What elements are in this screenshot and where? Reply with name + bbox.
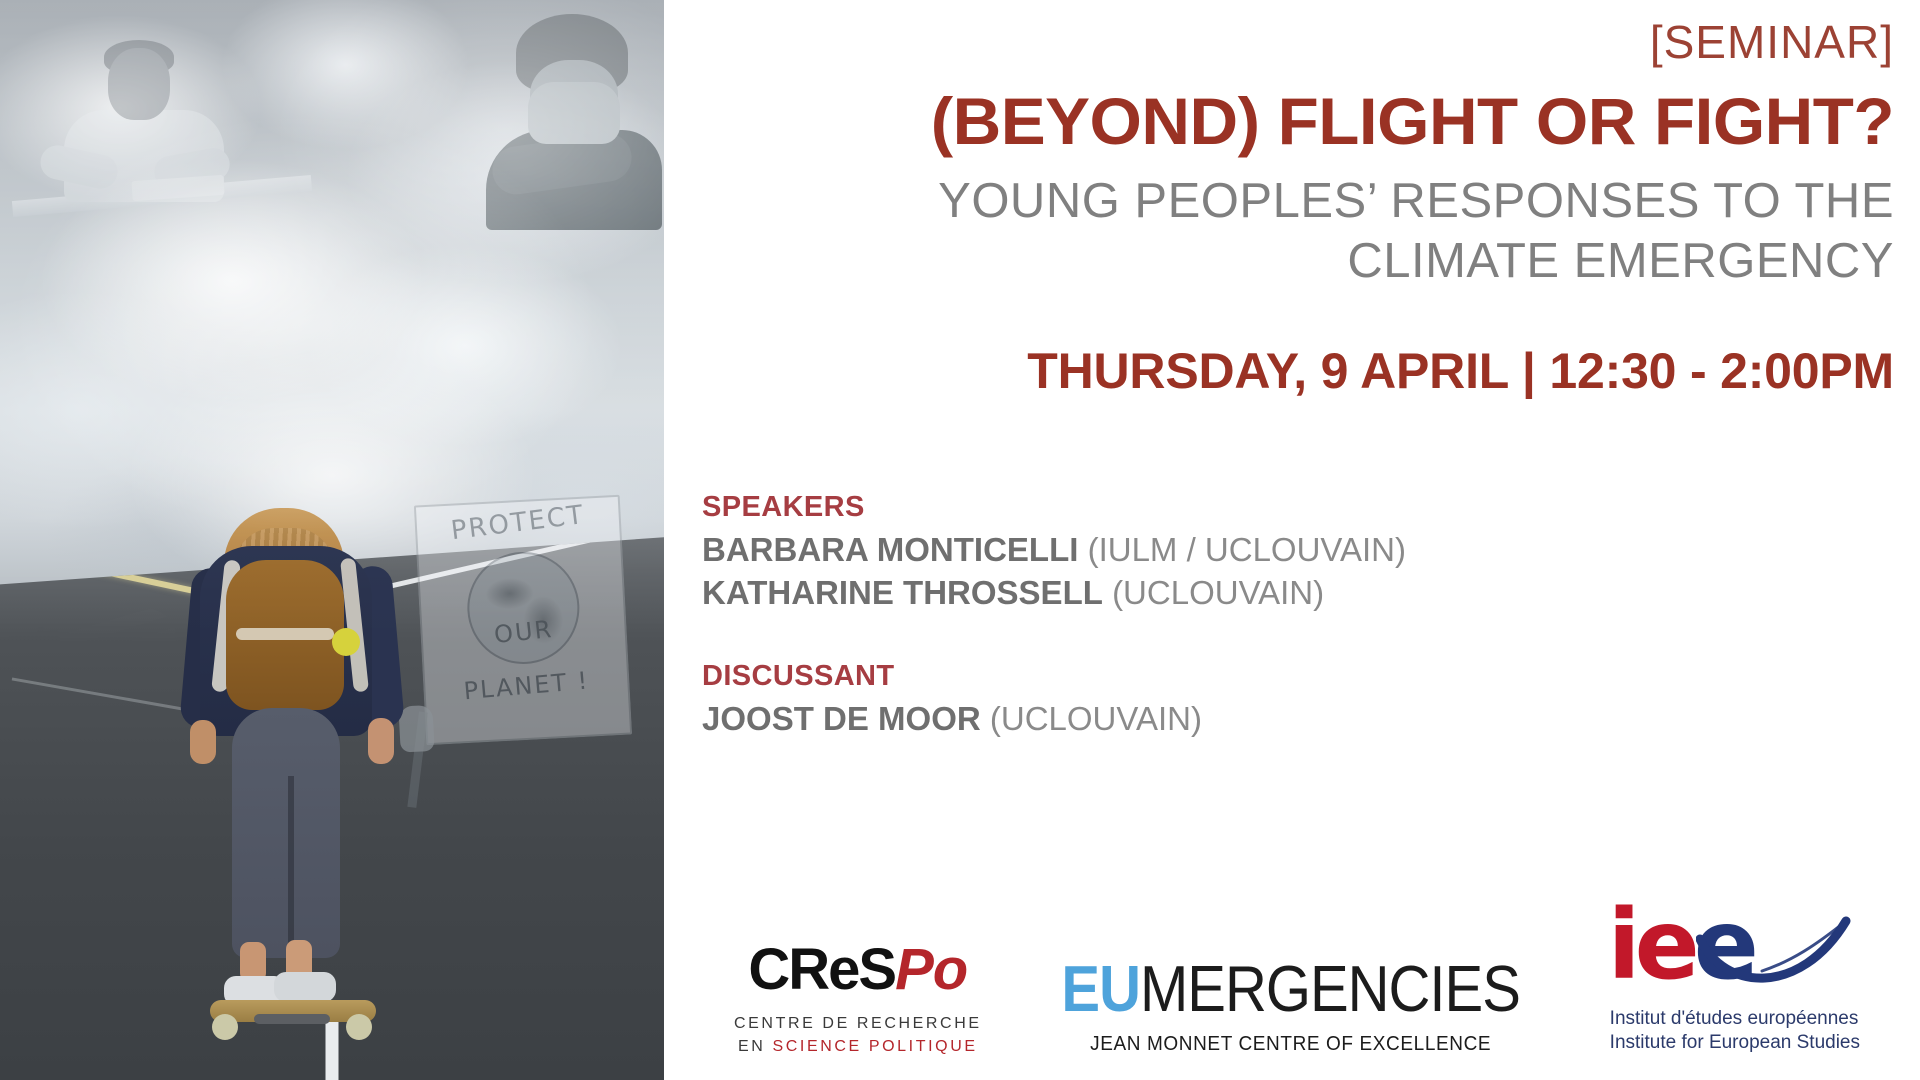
- skateboard-wheel-rear: [346, 1014, 372, 1040]
- eumergencies-wordmark-rest: MERGENCIES: [1140, 953, 1520, 1026]
- discussant-heading: DISCUSSANT: [702, 655, 1894, 697]
- section-spacer: [702, 615, 1894, 655]
- iee-wordmark: iee: [1600, 899, 1850, 1003]
- discussant-row: JOOST DE MOOR (UCLOUVAIN): [702, 697, 1894, 741]
- skater-right-shoe: [274, 972, 336, 1002]
- skateboard-wheel-front: [212, 1014, 238, 1040]
- crespo-wordmark: CReSPo: [734, 941, 982, 999]
- crespo-tagline-red: SCIENCE POLITIQUE: [773, 1038, 978, 1055]
- iee-tagline-line-2: Institute for European Studies: [1610, 1031, 1860, 1056]
- iee-letters-red: ie: [1608, 889, 1694, 1001]
- yellow-ball-accessory: [332, 628, 360, 656]
- iee-swoosh-icon: [1696, 905, 1852, 999]
- speaker-affiliation: (UCLOUVAIN): [1112, 574, 1324, 611]
- iee-logo: iee Institut d'études européennes Instit…: [1600, 899, 1860, 1056]
- speaker-name: BARBARA MONTICELLI: [702, 531, 1078, 568]
- speaker-row: BARBARA MONTICELLI (IULM / UCLOUVAIN): [702, 528, 1894, 572]
- crespo-tagline-prefix: EN: [738, 1038, 772, 1055]
- speaker-row: KATHARINE THROSSELL (UCLOUVAIN): [702, 571, 1894, 615]
- seminar-kicker: [SEMINAR]: [690, 18, 1894, 66]
- backpack-pocket: [236, 628, 334, 640]
- eumergencies-tagline: JEAN MONNET CENTRE OF EXCELLENCE: [1090, 1033, 1491, 1056]
- head-shape: [108, 48, 170, 120]
- skater-right-hand: [368, 718, 394, 764]
- iee-tagline: Institut d'études européennes Institute …: [1600, 1007, 1860, 1056]
- eumergencies-logo: EUMERGENCIES JEAN MONNET CENTRE OF EXCEL…: [982, 964, 1600, 1056]
- crespo-wordmark-red: Po: [895, 937, 967, 1002]
- page-subtitle: YOUNG PEOPLES’ RESPONSES TO THE CLIMATE …: [690, 172, 1894, 292]
- protest-placard: PROTECT OUR PLANET !: [414, 495, 632, 745]
- crespo-tagline-line-1: CENTRE DE RECHERCHE: [734, 1015, 982, 1033]
- logo-row: CReSPo CENTRE DE RECHERCHE EN SCIENCE PO…: [664, 899, 1920, 1056]
- discussant-affiliation: (UCLOUVAIN): [990, 700, 1202, 737]
- hands-covering-face-shape: [528, 82, 620, 144]
- distressed-teenager-figure: [472, 12, 662, 227]
- crespo-wordmark-black: CReS: [748, 937, 895, 1002]
- skater-left-hand: [190, 720, 216, 764]
- iee-tagline-line-1: Institut d'études européennes: [1610, 1007, 1860, 1032]
- poster-content: [SEMINAR] (BEYOND) FLIGHT OR FIGHT? YOUN…: [664, 0, 1920, 1080]
- discussant-name: JOOST DE MOOR: [702, 700, 981, 737]
- skater-leg-separation: [288, 776, 294, 952]
- speaker-affiliation: (IULM / UCLOUVAIN): [1088, 531, 1406, 568]
- skateboard-truck: [254, 1014, 330, 1024]
- crespo-tagline-line-2: EN SCIENCE POLITIQUE: [734, 1038, 982, 1056]
- crespo-logo: CReSPo CENTRE DE RECHERCHE EN SCIENCE PO…: [734, 941, 982, 1056]
- eumergencies-wordmark-eu: EU: [1061, 953, 1140, 1026]
- skater-legs: [232, 708, 340, 958]
- event-datetime: THURSDAY, 9 APRIL | 12:30 - 2:00PM: [690, 342, 1894, 400]
- skateboarder-figure: [176, 508, 406, 1068]
- seminar-poster: PROTECT OUR PLANET !: [0, 0, 1920, 1080]
- photo-collage: PROTECT OUR PLANET !: [0, 0, 664, 1080]
- subtitle-line-2: CLIMATE EMERGENCY: [690, 232, 1894, 292]
- page-title: (BEYOND) FLIGHT OR FIGHT?: [666, 88, 1894, 154]
- speakers-heading: SPEAKERS: [702, 486, 1894, 528]
- participants-block: SPEAKERS BARBARA MONTICELLI (IULM / UCLO…: [690, 486, 1894, 741]
- speaker-name: KATHARINE THROSSELL: [702, 574, 1103, 611]
- eumergencies-wordmark: EUMERGENCIES: [1061, 957, 1520, 1022]
- subtitle-line-1: YOUNG PEOPLES’ RESPONSES TO THE: [690, 172, 1894, 232]
- studying-teenager-figure: [22, 40, 272, 240]
